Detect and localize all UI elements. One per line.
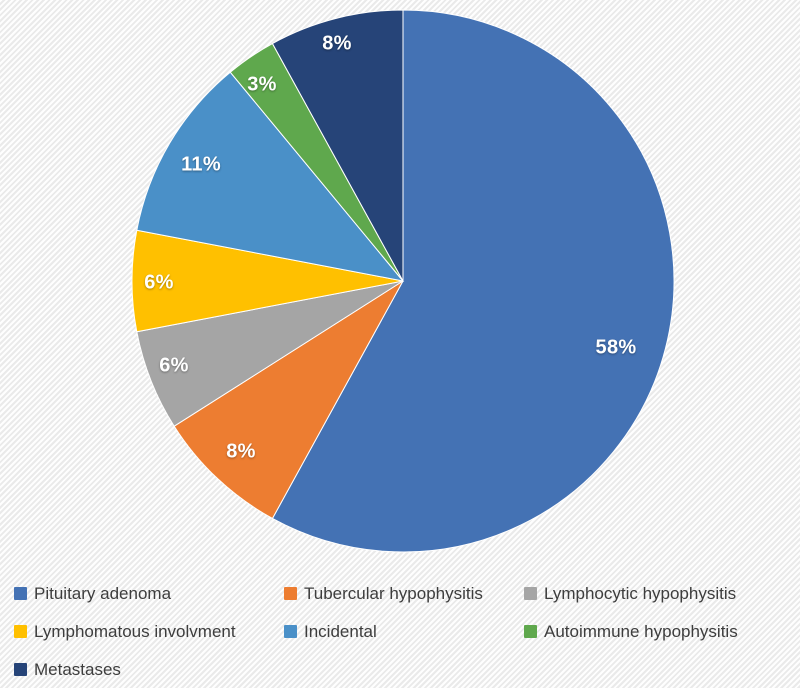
legend-item[interactable]: Pituitary adenoma	[14, 574, 284, 612]
legend-color-swatch-icon	[14, 625, 27, 638]
legend-item-label: Autoimmune hypophysitis	[544, 623, 738, 640]
legend-item-label: Pituitary adenoma	[34, 585, 171, 602]
legend-color-swatch-icon	[524, 587, 537, 600]
legend-item-label: Tubercular hypophysitis	[304, 585, 483, 602]
pie-chart-plot-area: 58%8%6%6%11%3%8%	[0, 0, 800, 562]
legend-color-swatch-icon	[14, 587, 27, 600]
legend-color-swatch-icon	[14, 663, 27, 676]
legend-item[interactable]: Lymphomatous involvment	[14, 612, 284, 650]
legend-item-label: Metastases	[34, 661, 121, 678]
legend-row: Lymphomatous involvmentIncidentalAutoimm…	[14, 612, 786, 650]
chart-legend: Pituitary adenomaTubercular hypophysitis…	[0, 566, 800, 688]
legend-item-label: Lymphocytic hypophysitis	[544, 585, 736, 602]
legend-item-label: Incidental	[304, 623, 377, 640]
legend-row: Metastases	[14, 650, 786, 688]
legend-color-swatch-icon	[524, 625, 537, 638]
legend-item[interactable]: Autoimmune hypophysitis	[524, 612, 738, 650]
legend-color-swatch-icon	[284, 625, 297, 638]
legend-row: Pituitary adenomaTubercular hypophysitis…	[14, 574, 786, 612]
legend-item[interactable]: Metastases	[14, 650, 284, 688]
legend-item[interactable]: Incidental	[284, 612, 524, 650]
legend-item-label: Lymphomatous involvment	[34, 623, 236, 640]
legend-item[interactable]: Lymphocytic hypophysitis	[524, 574, 736, 612]
pie-chart-svg	[0, 0, 800, 562]
chart-canvas: 58%8%6%6%11%3%8% Pituitary adenomaTuberc…	[0, 0, 800, 688]
legend-item[interactable]: Tubercular hypophysitis	[284, 574, 524, 612]
legend-color-swatch-icon	[284, 587, 297, 600]
